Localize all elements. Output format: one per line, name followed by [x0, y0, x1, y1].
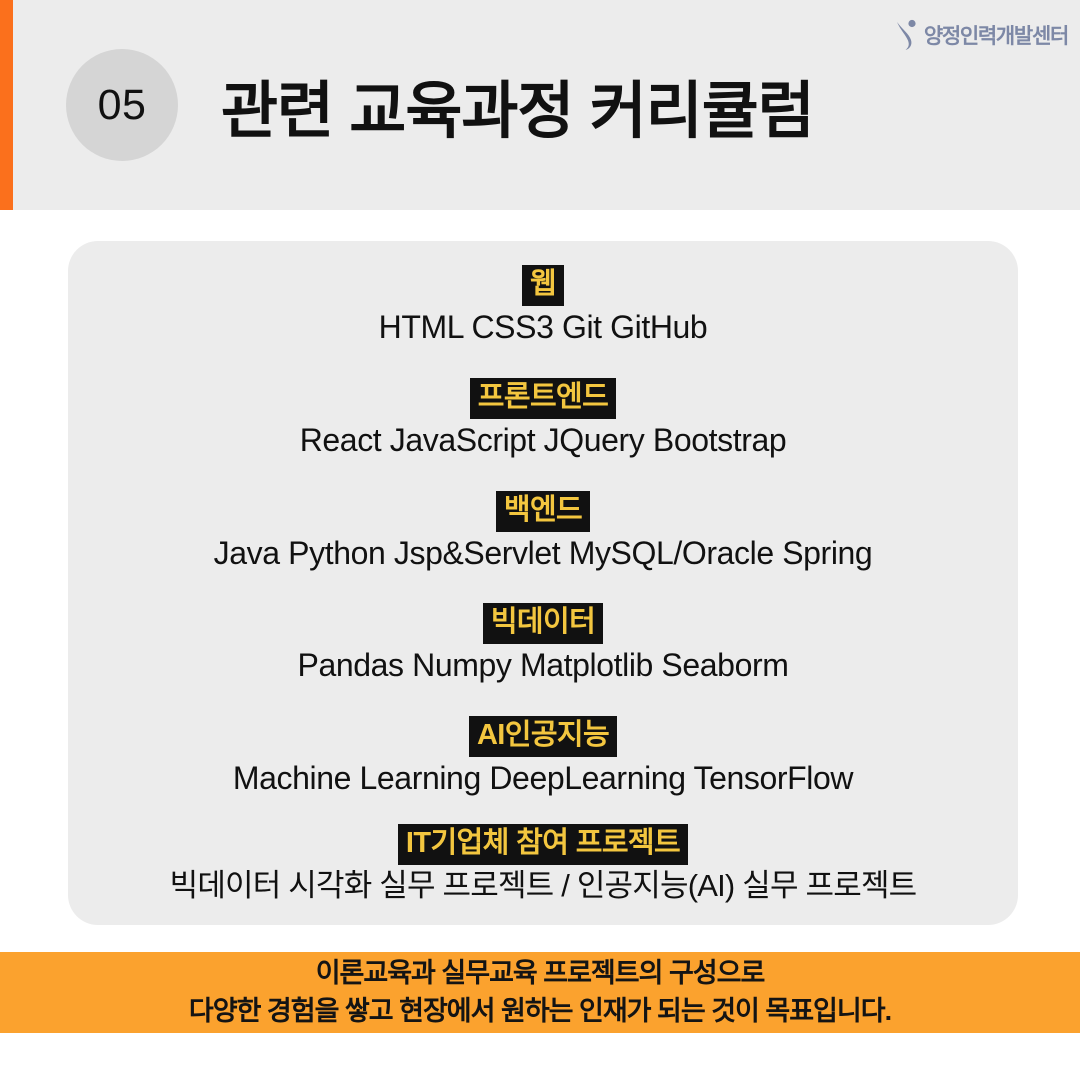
curriculum-row-ai: AI인공지능 Machine Learning DeepLearning Ten… — [68, 716, 1018, 797]
curriculum-items: HTML CSS3 Git GitHub — [68, 309, 1018, 346]
curriculum-items: 빅데이터 시각화 실무 프로젝트 / 인공지능(AI) 실무 프로젝트 — [68, 868, 1018, 904]
curriculum-row-frontend: 프론트엔드 React JavaScript JQuery Bootstrap — [68, 378, 1018, 459]
summary-banner-line-1: 이론교육과 실무교육 프로젝트의 구성으로 — [316, 955, 765, 992]
curriculum-row-it-project: IT기업체 참여 프로젝트 빅데이터 시각화 실무 프로젝트 / 인공지능(AI… — [68, 824, 1018, 904]
curriculum-card: 웹 HTML CSS3 Git GitHub 프론트엔드 React JavaS… — [68, 241, 1018, 925]
curriculum-items: React JavaScript JQuery Bootstrap — [68, 422, 1018, 459]
curriculum-badge: 웹 — [522, 265, 564, 306]
summary-banner: 이론교육과 실무교육 프로젝트의 구성으로 다양한 경험을 쌓고 현장에서 원하… — [0, 952, 1080, 1033]
step-number-badge: 05 — [66, 49, 178, 161]
curriculum-items: Machine Learning DeepLearning TensorFlow — [68, 760, 1018, 797]
summary-banner-line-2: 다양한 경험을 쌓고 현장에서 원하는 인재가 되는 것이 목표입니다. — [189, 993, 891, 1030]
curriculum-badge: 빅데이터 — [483, 603, 603, 644]
curriculum-items: Java Python Jsp&Servlet MySQL/Oracle Spr… — [68, 535, 1018, 572]
page-header: 05 관련 교육과정 커리큘럼 양정인력개발센터 — [0, 0, 1080, 210]
curriculum-row-web: 웹 HTML CSS3 Git GitHub — [68, 265, 1018, 346]
page-title: 관련 교육과정 커리큘럼 — [221, 55, 814, 155]
brand-logo: 양정인력개발센터 — [895, 18, 1068, 52]
curriculum-items: Pandas Numpy Matplotlib Seaborm — [68, 647, 1018, 684]
curriculum-badge: 백엔드 — [496, 491, 590, 532]
step-number-label: 05 — [98, 84, 147, 127]
curriculum-badge: 프론트엔드 — [470, 378, 616, 419]
curriculum-row-backend: 백엔드 Java Python Jsp&Servlet MySQL/Oracle… — [68, 491, 1018, 572]
curriculum-badge: IT기업체 참여 프로젝트 — [398, 824, 688, 865]
left-accent-bar — [0, 0, 13, 210]
brand-logo-text: 양정인력개발센터 — [924, 20, 1068, 50]
curriculum-badge: AI인공지능 — [469, 716, 617, 757]
curriculum-row-bigdata: 빅데이터 Pandas Numpy Matplotlib Seaborm — [68, 603, 1018, 684]
person-swoosh-icon — [895, 18, 921, 52]
